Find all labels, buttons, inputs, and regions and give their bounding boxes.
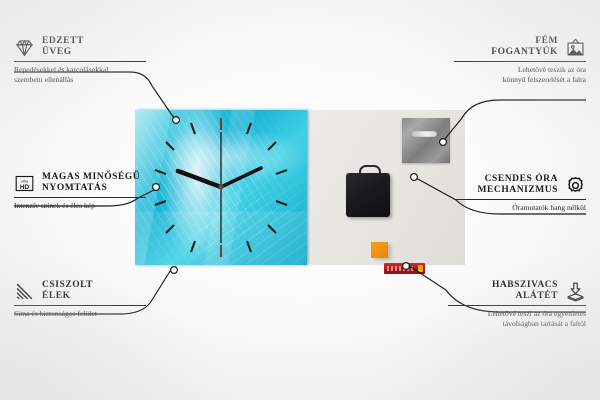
clock-minute-hand <box>221 168 261 187</box>
clock-center-cap <box>218 184 223 189</box>
callout-metal-handles[interactable]: FÉM FOGANTYÚK Lehetővé teszik az óra kön… <box>454 36 586 84</box>
picture-hanger-icon <box>565 37 586 58</box>
callout-subtitle: Repedésekkel és karcolásokkal szembeni e… <box>14 65 146 84</box>
callout-high-quality-print[interactable]: ultra HD MAGAS MINŐSÉGŰ NYOMTATÁS Intenz… <box>14 172 146 211</box>
callout-silent-mechanism[interactable]: CSENDES ÓRA MECHANIZMUS Óramutatók hang … <box>454 174 586 213</box>
svg-text:HD: HD <box>20 183 30 190</box>
callout-subtitle: Lehetővé teszi az óra egyenletes távolsá… <box>448 309 586 328</box>
foam-pad-arrow-icon <box>565 281 586 302</box>
metal-hanger-plate <box>402 118 450 163</box>
callout-title: EDZETT ÜVEG <box>42 36 84 58</box>
diamond-icon <box>14 37 35 58</box>
battery <box>384 263 425 274</box>
polished-edges-icon <box>14 281 35 302</box>
callout-subtitle: Lehetővé teszik az óra könnyű felszerelé… <box>454 65 586 84</box>
callout-subtitle: Intenzív színek és éles kép <box>14 201 146 211</box>
battery-label <box>387 266 415 271</box>
product-photo <box>135 110 465 265</box>
clock-face <box>135 110 307 265</box>
callout-divider <box>454 199 586 200</box>
callout-title: CSISZOLT ÉLEK <box>42 280 93 302</box>
callout-title: HABSZIVACS ALÁTÉT <box>448 280 558 302</box>
callout-foam-spacer[interactable]: HABSZIVACS ALÁTÉT Lehetővé teszi az óra … <box>448 280 586 328</box>
anchor-dot-edges <box>171 267 178 274</box>
callout-divider <box>454 61 586 62</box>
callout-divider <box>14 305 146 306</box>
callout-subtitle: Óramutatók hang nélkül <box>454 203 586 213</box>
callout-divider <box>448 305 586 306</box>
foam-spacer-pad <box>371 242 388 258</box>
callout-title: CSENDES ÓRA MECHANIZMUS <box>454 174 558 196</box>
callout-subtitle: Sima és biztonságos felület <box>14 309 146 319</box>
clock-mechanism-box <box>346 173 390 217</box>
gear-icon <box>565 175 586 196</box>
callout-polished-edges[interactable]: CSISZOLT ÉLEK Sima és biztonságos felüle… <box>14 280 146 319</box>
callout-tempered-glass[interactable]: EDZETT ÜVEG Repedésekkel és karcolásokka… <box>14 36 146 84</box>
infographic-canvas: EDZETT ÜVEG Repedésekkel és karcolásokka… <box>0 0 600 400</box>
callout-title: MAGAS MINŐSÉGŰ NYOMTATÁS <box>42 172 140 194</box>
clock-hour-hand <box>178 171 221 187</box>
ultra-hd-badge-icon: ultra HD <box>14 173 35 194</box>
clock-back-panel <box>310 110 465 265</box>
clock-front-panel <box>135 110 307 265</box>
callout-title: FÉM FOGANTYÚK <box>454 36 558 58</box>
callout-divider <box>14 197 146 198</box>
callout-divider <box>14 61 146 62</box>
